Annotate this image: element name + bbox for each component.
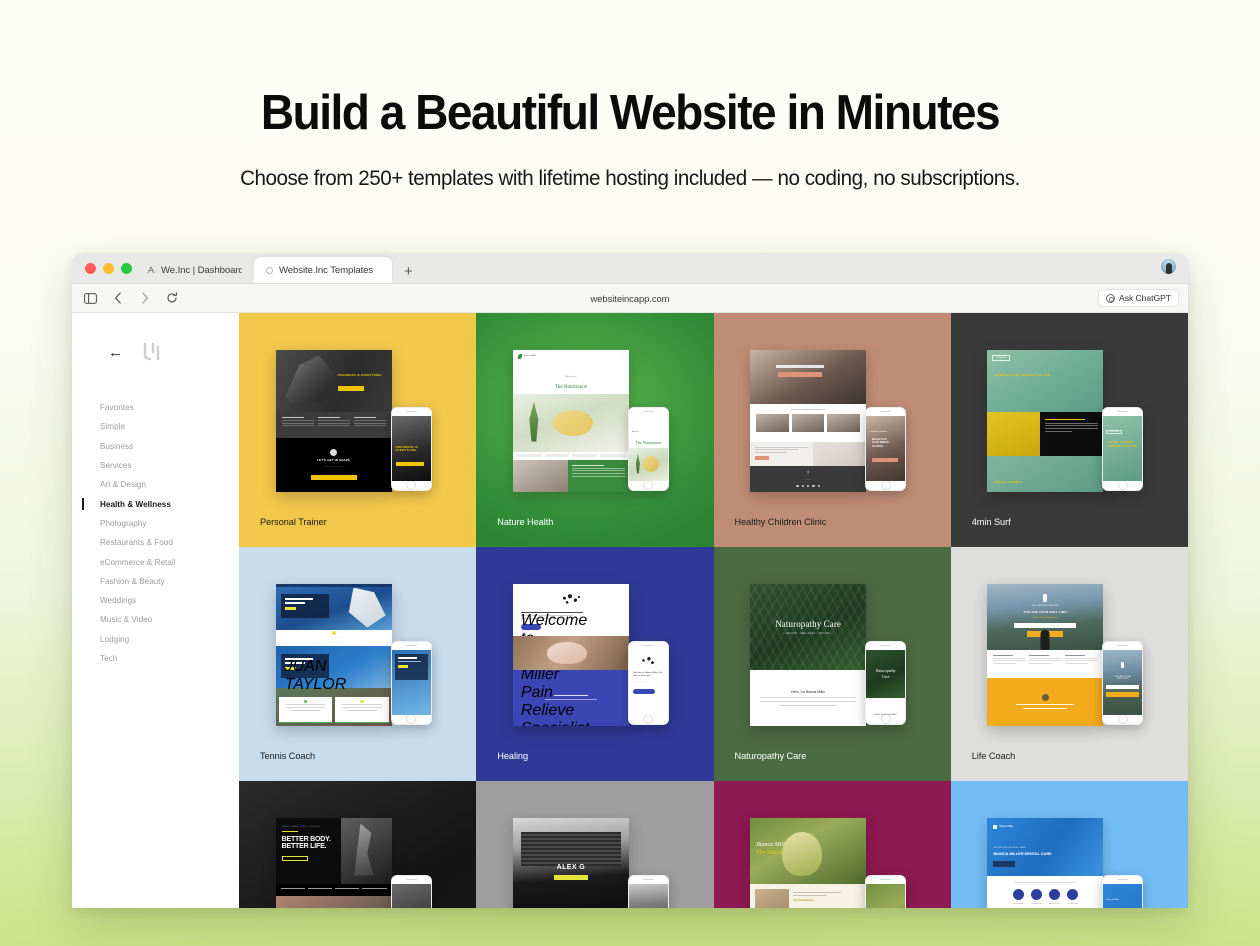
sidebar-item-health-wellness[interactable]: Health & Wellness (72, 494, 239, 513)
template-card-personal-trainer[interactable]: PROGRESS IS EVERYTHING LET'S GET IN SHA (239, 313, 476, 547)
template-preview: ALEX G ALEX G (476, 781, 713, 908)
sidebar-nav: Favorites Simple Business Services Art &… (72, 398, 239, 668)
back-icon[interactable] (111, 292, 124, 305)
browser-tab-label-1: Website.Inc Templates (279, 265, 373, 276)
template-card-label: Life Coach (972, 751, 1015, 761)
sidebar-item-fashion-beauty[interactable]: Fashion & Beauty (72, 572, 239, 591)
sidebar-item-ecommerce-retail[interactable]: eCommerce & Retail (72, 552, 239, 571)
template-card-nature-health[interactable]: Bianca Miller ≡ Welcome to The Nutrition… (476, 313, 713, 547)
sidebar-item-label: Restaurants & Food (100, 538, 173, 547)
template-card-tennis-coach[interactable]: ———— —————— —— JUAN TAYLOR (239, 547, 476, 781)
template-card-healthy-children-clinic[interactable]: ⚕ ———— ≡ Healthy Children HEALTHY CHILDR… (714, 313, 951, 547)
sidebar-item-label: Photography (100, 519, 146, 528)
mock-headline: BETTER BODY. BETTER LIFE. (282, 836, 335, 851)
template-preview: Welcome to Bianca Miller Pain Relieve Sp… (476, 547, 713, 781)
chatgpt-icon (1106, 294, 1115, 303)
template-preview: ———— —————— —— JUAN TAYLOR (239, 547, 476, 781)
template-preview: THE PREMIUM COACHING YOU ARE YOUR ONLY L… (951, 547, 1188, 781)
reload-icon[interactable] (165, 292, 178, 305)
sidebar-item-label: Tech (100, 654, 117, 663)
template-grid: PROGRESS IS EVERYTHING LET'S GET IN SHA (239, 313, 1188, 908)
page-subtitle: Choose from 250+ templates with lifetime… (25, 166, 1235, 191)
new-tab-button[interactable]: + (404, 264, 413, 279)
sidebar-item-label: Business (100, 442, 133, 451)
sidebar-item-label: Services (100, 461, 131, 470)
template-preview: Naturopathy Care — HEALTH • WELLNESS • N… (714, 547, 951, 781)
browser-tab-0[interactable]: We.Inc | Dashboard (134, 257, 254, 283)
template-preview: ⚕ ———— ≡ Healthy Children HEALTHY CHILDR… (714, 313, 951, 547)
template-preview: Bianca Miller ≡ Welcome to The Nutrition… (476, 313, 713, 547)
browser-window: We.Inc | Dashboard Website.Inc Templates… (72, 253, 1188, 908)
mock-foot-text: HOW DO I START? (993, 481, 1022, 485)
template-card-healing[interactable]: Welcome to Bianca Miller Pain Relieve Sp… (476, 547, 713, 781)
mock-headline: LEARN TO SURF CHANGE YOU LIFE (993, 374, 1063, 378)
website-inc-logo-icon (141, 342, 163, 362)
template-card-better-body-better-life[interactable]: TRAIN HARD. FEEL STRONG. BETTER BODY. BE… (239, 781, 476, 908)
template-preview: Bianca Miller The Nutritionist The Nutri… (714, 781, 951, 908)
mock-kicker: Welcome to (565, 376, 577, 378)
template-card-label: Tennis Coach (260, 751, 315, 761)
mock-title: The Nutritionist (513, 382, 629, 394)
template-preview: PROGRESS IS EVERYTHING LET'S GET IN SHA (239, 313, 476, 547)
hero-section: Build a Beautiful Website in Minutes Cho… (0, 0, 1260, 191)
sidebar-item-label: Fashion & Beauty (100, 577, 165, 586)
forward-icon[interactable] (138, 292, 151, 305)
sidebar-item-label: Simple (100, 422, 125, 431)
sidebar-item-tech[interactable]: Tech (72, 649, 239, 668)
template-card-label: 4min Surf (972, 517, 1011, 527)
minimize-window-button[interactable] (103, 263, 114, 274)
mock-subtitle: The Nutritionist (756, 850, 795, 856)
sidebar-item-restaurants-food[interactable]: Restaurants & Food (72, 533, 239, 552)
sidebar-item-label: Weddings (100, 596, 136, 605)
template-card-naturopathy-care[interactable]: Naturopathy Care — HEALTH • WELLNESS • N… (714, 547, 951, 781)
back-arrow-icon[interactable]: ← (108, 345, 123, 360)
sidebar-item-favorites[interactable]: Favorites (72, 398, 239, 417)
mock-tag: 4min Surf (992, 355, 1009, 362)
address-bar[interactable]: websiteincapp.com (72, 293, 1188, 304)
maximize-window-button[interactable] (121, 263, 132, 274)
tab-loading-icon (266, 267, 273, 274)
template-preview: TRAIN HARD. FEEL STRONG. BETTER BODY. BE… (239, 781, 476, 908)
ask-chatgpt-button[interactable]: Ask ChatGPT (1098, 289, 1179, 307)
sidebar-item-label: Favorites (100, 403, 134, 412)
sidebar-item-art-design[interactable]: Art & Design (72, 475, 239, 494)
template-card-bianca-miller-nutritionist[interactable]: Bianca Miller The Nutritionist The Nutri… (714, 781, 951, 908)
sidebar-item-simple[interactable]: Simple (72, 417, 239, 436)
sidebar-item-label: eCommerce & Retail (100, 558, 176, 567)
sidebar-item-label: Music & Video (100, 615, 152, 624)
template-card-life-coach[interactable]: THE PREMIUM COACHING YOU ARE YOUR ONLY L… (951, 547, 1188, 781)
sidebar-item-weddings[interactable]: Weddings (72, 591, 239, 610)
mock-headline: ALEX G (557, 864, 585, 871)
profile-avatar[interactable] (1161, 259, 1176, 274)
ask-chatgpt-label: Ask ChatGPT (1119, 293, 1171, 303)
template-card-label: Nature Health (497, 517, 553, 527)
browser-tab-label-0: We.Inc | Dashboard (161, 265, 242, 276)
template-card-label: Healthy Children Clinic (735, 517, 827, 527)
sidebar-item-label: Health & Wellness (100, 500, 171, 509)
mock-title: Naturopathy Care (775, 619, 841, 629)
tab-favicon-icon (146, 266, 155, 275)
browser-tab-1[interactable]: Website.Inc Templates (254, 257, 392, 283)
mock-headline: JUAN TAYLOR (285, 658, 314, 660)
mock-brand: Bianca Miller (524, 355, 537, 358)
mock-headline: Welcome to Bianca Miller Pain Relieve Sp… (521, 612, 583, 614)
sidebar-item-services[interactable]: Services (72, 456, 239, 475)
sidebar-item-photography[interactable]: Photography (72, 514, 239, 533)
sidebar-item-lodging[interactable]: Lodging (72, 630, 239, 649)
mock-headline: HEALTHY CHILDREN CLINIC (872, 438, 900, 449)
mock-headline: PROGRESS IS EVERYTHING (338, 374, 382, 378)
window-traffic-lights (85, 263, 132, 274)
template-preview: Bianca Miller WE PROVIDE THE BEST CARE B… (951, 781, 1188, 908)
app-body: ← Favorites Simple Business Services Art… (72, 313, 1188, 908)
browser-tabs: We.Inc | Dashboard Website.Inc Templates… (134, 253, 413, 283)
template-card-alex-g[interactable]: ALEX G ALEX G (476, 781, 713, 908)
mock-subtitle: Hello, I'm Bianca Miller (791, 690, 825, 694)
sidebar-item-music-video[interactable]: Music & Video (72, 610, 239, 629)
template-preview: 4min Surf LEARN TO SURF CHANGE YOU LIFE … (951, 313, 1188, 547)
template-card-label: Personal Trainer (260, 517, 327, 527)
sidebar-header: ← (72, 335, 239, 369)
template-card-4min-surf[interactable]: 4min Surf LEARN TO SURF CHANGE YOU LIFE … (951, 313, 1188, 547)
browser-toolbar: websiteincapp.com Ask ChatGPT (72, 284, 1188, 313)
mock-cta-button (993, 861, 1015, 867)
mock-cta-button (338, 386, 364, 391)
close-window-button[interactable] (85, 263, 96, 274)
mock-foot-text: LET'S GET IN SHAPE (317, 459, 350, 463)
template-card-label: Naturopathy Care (735, 751, 807, 761)
mock-headline: YOU ARE YOUR ONLY LIMIT (1023, 611, 1067, 615)
sidebar-item-business[interactable]: Business (72, 437, 239, 456)
page-title: Build a Beautiful Website in Minutes (38, 88, 1222, 140)
template-card-bianca-miller-dental-care[interactable]: Bianca Miller WE PROVIDE THE BEST CARE B… (951, 781, 1188, 908)
browser-tab-strip: We.Inc | Dashboard Website.Inc Templates… (72, 253, 1188, 284)
sidebar-item-label: Art & Design (100, 480, 146, 489)
mock-headline: BIANCA MILLER DENTAL CARE (993, 851, 1097, 856)
category-sidebar: ← Favorites Simple Business Services Art… (72, 313, 239, 908)
mock-title: Bianca Miller (756, 842, 790, 848)
sidebar-toggle-icon[interactable] (84, 292, 97, 305)
template-card-label: Healing (497, 751, 528, 761)
sidebar-item-label: Lodging (100, 635, 129, 644)
